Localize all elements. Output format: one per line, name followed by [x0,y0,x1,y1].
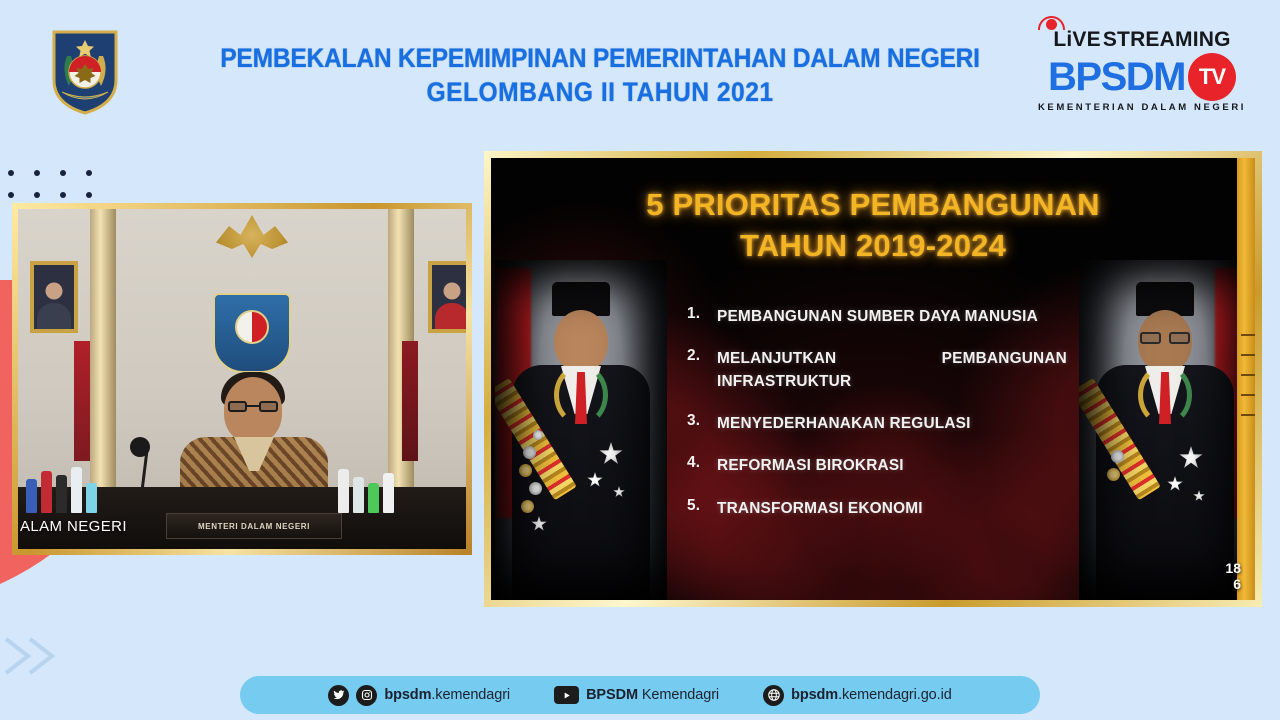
title-line-1: PEMBEKALAN KEPEMIMPINAN PEMERINTAHAN DAL… [219,42,982,76]
live-streaming-text: LiVE STREAMING [1032,28,1252,52]
tv-badge: TV [1188,53,1236,101]
microphone-icon [130,437,150,457]
social-handle-rest: .kemendagri [431,687,510,703]
speaker-video-feed[interactable]: MENTERI DALAM NEGERI ALAM NEGERI [12,203,472,555]
website-url-text: bpsdm.kemendagri.go.id [791,687,952,703]
flag-right [402,341,418,461]
stream-overlay-page: PEMBEKALAN KEPEMIMPINAN PEMERINTAHAN DAL… [0,0,1280,720]
list-item-text: MENYEDERHANAKAN REGULASI [717,412,1067,435]
live-word: LiVE [1053,28,1100,52]
live-dot-icon [1046,19,1057,30]
website-rest: .kemendagri.go.id [838,687,952,703]
framed-portrait-left [30,261,78,333]
bpsdm-wordmark: BPSDM [1048,57,1185,97]
slide-title: 5 PRIORITAS PEMBANGUNAN TAHUN 2019-2024 [491,158,1255,266]
bpsdm-tv-lockup: BPSDM TV [1032,53,1252,101]
youtube-bold: BPSDM [586,687,638,703]
list-item: 5. TRANSFORMASI EKONOMI [687,497,1067,520]
twitter-icon[interactable] [328,685,349,706]
title-line-2: GELOMBANG II TAHUN 2021 [219,76,982,110]
list-item: 3. MENYEDERHANAKAN REGULASI [687,412,1067,435]
list-item-number: 2. [687,347,707,393]
list-item-number: 1. [687,305,707,328]
video-caption: ALAM NEGERI [18,518,127,535]
framed-portrait-right [428,261,472,333]
flag-left [74,341,90,461]
youtube-channel-text: BPSDM Kemendagri [586,687,719,703]
youtube-icon[interactable] [554,686,579,704]
page-number-bottom: 6 [1225,576,1241,592]
website-group[interactable]: bpsdm.kemendagri.go.id [763,685,952,706]
slide-title-line-1: 5 PRIORITAS PEMBANGUNAN [491,184,1255,225]
instagram-icon[interactable] [356,685,377,706]
slide-title-line-2: TAHUN 2019-2024 [491,225,1255,266]
priority-list: 1. PEMBANGUNAN SUMBER DAYA MANUSIA 2. ME… [687,305,1067,539]
list-item-number: 4. [687,454,707,477]
social-handle-group[interactable]: bpsdm.kemendagri [328,685,510,706]
list-item-text: MELANJUTKAN PEMBANGUNAN INFRASTRUKTUR [717,347,1067,393]
youtube-group[interactable]: BPSDM Kemendagri [554,686,719,704]
list-item-text: PEMBANGUNAN SUMBER DAYA MANUSIA [717,305,1067,328]
youtube-rest: Kemendagri [638,687,719,703]
president-portrait-right [1079,260,1251,600]
bottles-left [26,457,97,513]
speaker-glasses-icon [228,401,278,412]
desk-nameplate-text: MENTERI DALAM NEGERI [198,522,310,531]
ministry-crest-icon [213,293,291,373]
globe-icon[interactable] [763,685,784,706]
list-item: 1. PEMBANGUNAN SUMBER DAYA MANUSIA [687,305,1067,328]
social-handle-bold: bpsdm [384,687,431,703]
double-chevron-icon [4,633,74,679]
list-item-number: 5. [687,497,707,520]
page-number-top: 18 [1225,560,1241,576]
slide-page-number: 18 6 [1225,560,1241,592]
ministry-subtitle: KEMENTERIAN DALAM NEGERI [1032,102,1252,113]
social-handle-text: bpsdm.kemendagri [384,687,510,703]
list-item-text: TRANSFORMASI EKONOMI [717,497,1067,520]
streaming-word: STREAMING [1103,28,1231,52]
desk-nameplate: MENTERI DALAM NEGERI [166,513,342,539]
bottles-right [338,457,394,513]
president-portrait-left [495,260,667,600]
page-title: PEMBEKALAN KEPEMIMPINAN PEMERINTAHAN DAL… [219,42,982,110]
presentation-slide-panel[interactable]: 5 PRIORITAS PEMBANGUNAN TAHUN 2019-2024 … [484,151,1262,607]
slide-content: 5 PRIORITAS PEMBANGUNAN TAHUN 2019-2024 … [491,158,1255,600]
list-item-number: 3. [687,412,707,435]
live-streaming-logo: LiVE STREAMING BPSDM TV KEMENTERIAN DALA… [1032,28,1252,120]
slide-gold-edge-decoration [1237,158,1255,600]
list-item: 2. MELANJUTKAN PEMBANGUNAN INFRASTRUKTUR [687,347,1067,393]
list-item: 4. REFORMASI BIROKRASI [687,454,1067,477]
website-bold: bpsdm [791,687,838,703]
list-item-text: REFORMASI BIROKRASI [717,454,1067,477]
social-footer-bar: bpsdm.kemendagri BPSDM Kemendagri [240,676,1040,714]
kemendagri-emblem-icon [50,28,120,116]
